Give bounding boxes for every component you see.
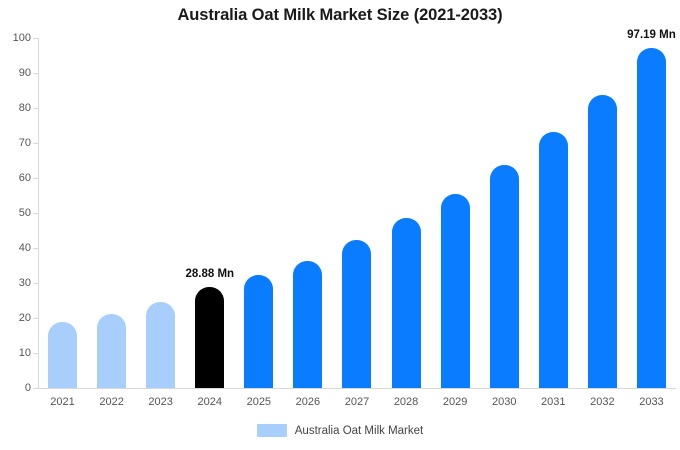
x-axis-tick-label: 2022 bbox=[87, 396, 136, 408]
chart-container: Australia Oat Milk Market Size (2021-203… bbox=[0, 0, 680, 450]
y-axis-tick-label: 50 bbox=[19, 207, 31, 219]
bar-group: 2031 bbox=[529, 38, 578, 388]
x-axis-tick-label: 2026 bbox=[283, 396, 332, 408]
y-axis-tick-label: 80 bbox=[19, 102, 31, 114]
x-axis-tick-label: 2031 bbox=[529, 396, 578, 408]
bar[interactable] bbox=[490, 165, 519, 388]
y-axis-tick-label: 70 bbox=[19, 137, 31, 149]
x-axis-tick-label: 2025 bbox=[234, 396, 283, 408]
bar-group: 2027 bbox=[332, 38, 381, 388]
y-axis-tick-label: 40 bbox=[19, 242, 31, 254]
bar-group: 2023 bbox=[136, 38, 185, 388]
y-axis-tick-mark bbox=[33, 388, 38, 389]
bar[interactable] bbox=[588, 95, 617, 388]
x-axis-tick-label: 2021 bbox=[38, 396, 87, 408]
bar[interactable] bbox=[637, 48, 666, 388]
bar[interactable] bbox=[97, 314, 126, 388]
x-axis-tick-label: 2032 bbox=[578, 396, 627, 408]
x-axis-tick-label: 2030 bbox=[480, 396, 529, 408]
x-axis-tick-label: 2027 bbox=[332, 396, 381, 408]
x-axis-line bbox=[38, 388, 676, 389]
x-axis-tick-label: 2028 bbox=[382, 396, 431, 408]
x-axis-tick-label: 2033 bbox=[627, 396, 676, 408]
x-axis-tick-label: 2023 bbox=[136, 396, 185, 408]
bar[interactable] bbox=[195, 287, 224, 388]
bar[interactable] bbox=[539, 132, 568, 388]
bar-value-label: 97.19 Mn bbox=[591, 29, 680, 41]
chart-title: Australia Oat Milk Market Size (2021-203… bbox=[0, 6, 680, 25]
y-axis-tick-label: 10 bbox=[19, 347, 31, 359]
bar-group: 2030 bbox=[480, 38, 529, 388]
bar[interactable] bbox=[392, 218, 421, 388]
bar-series: 202120222023202428.88 Mn2025202620272028… bbox=[38, 38, 676, 388]
y-axis-tick-label: 90 bbox=[19, 67, 31, 79]
x-axis-tick-label: 2029 bbox=[431, 396, 480, 408]
plot-area: 0102030405060708090100 20212022202320242… bbox=[38, 38, 676, 388]
y-axis-tick-label: 60 bbox=[19, 172, 31, 184]
bar[interactable] bbox=[244, 275, 273, 388]
bar[interactable] bbox=[146, 302, 175, 388]
bar-group: 2024 bbox=[185, 38, 234, 388]
bar[interactable] bbox=[342, 240, 371, 388]
y-axis-tick-label: 20 bbox=[19, 312, 31, 324]
legend-label-australia-oat-milk-market: Australia Oat Milk Market bbox=[295, 425, 423, 437]
bar-group: 2032 bbox=[578, 38, 627, 388]
bar-group: 2028 bbox=[382, 38, 431, 388]
x-axis-tick-label: 2024 bbox=[185, 396, 234, 408]
y-axis-tick-label: 100 bbox=[13, 32, 31, 44]
y-axis-tick-label: 0 bbox=[25, 382, 31, 394]
legend-swatch-australia-oat-milk-market bbox=[257, 424, 287, 437]
bar-group: 2022 bbox=[87, 38, 136, 388]
y-axis-tick-label: 30 bbox=[19, 277, 31, 289]
bar[interactable] bbox=[293, 261, 322, 388]
bar-group: 2029 bbox=[431, 38, 480, 388]
bar-group: 2021 bbox=[38, 38, 87, 388]
bar-group: 2033 bbox=[627, 38, 676, 388]
chart-legend: Australia Oat Milk Market bbox=[0, 424, 680, 437]
bar[interactable] bbox=[48, 322, 77, 388]
bar-group: 2025 bbox=[234, 38, 283, 388]
bar-group: 2026 bbox=[283, 38, 332, 388]
bar[interactable] bbox=[441, 194, 470, 388]
